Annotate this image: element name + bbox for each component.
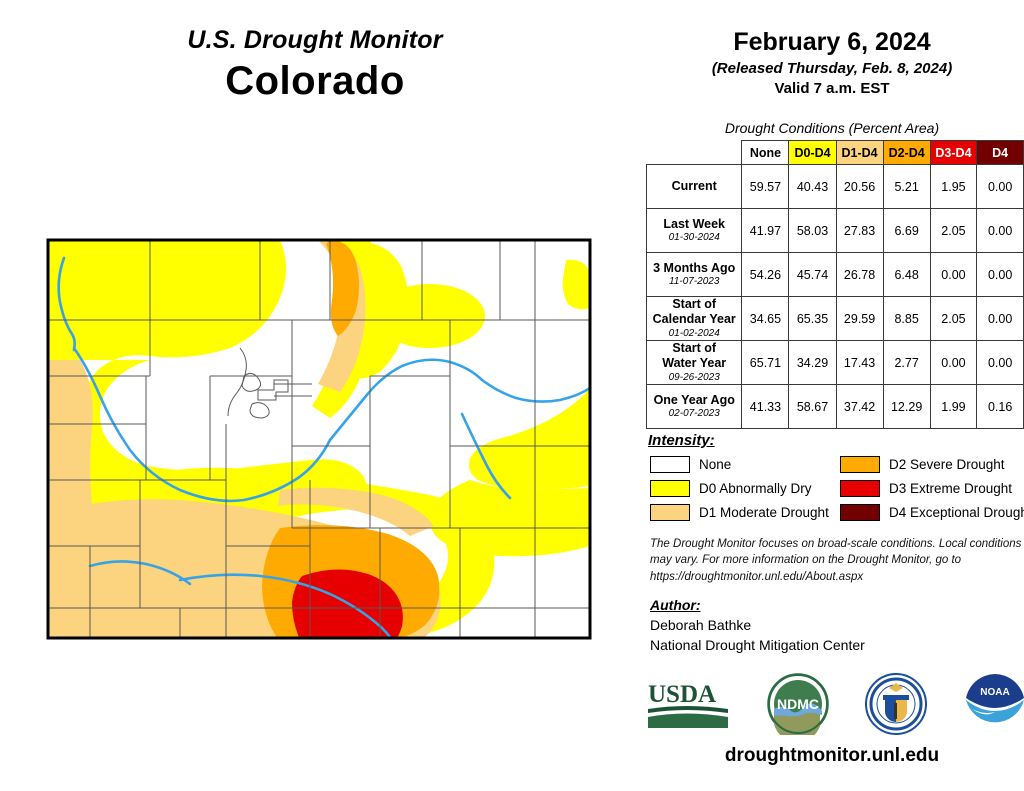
table-cell: 37.42	[836, 385, 883, 429]
page-title: U.S. Drought Monitor	[0, 26, 630, 55]
legend-item: D3 Extreme Drought	[840, 476, 1024, 500]
legend-label: D0 Abnormally Dry	[699, 481, 812, 496]
table-cell: 34.29	[789, 341, 836, 385]
legend-item: D4 Exceptional Drought	[840, 500, 1024, 524]
table-col-header-none: None	[742, 141, 789, 165]
table-cell: 0.00	[977, 165, 1024, 209]
table-body: Current59.5740.4320.565.211.950.00Last W…	[647, 165, 1024, 429]
table-cell: 29.59	[836, 297, 883, 341]
table-cell: 0.00	[930, 341, 977, 385]
legend-swatch	[650, 480, 690, 497]
table-cell: 5.21	[883, 165, 930, 209]
table-cell: 41.33	[742, 385, 789, 429]
row-date: 01-02-2024	[647, 328, 741, 340]
report-date: February 6, 2024	[640, 28, 1024, 57]
table-header-row: NoneD0-D4D1-D4D2-D4D3-D4D4	[647, 141, 1024, 165]
row-date: 01-30-2024	[647, 232, 741, 244]
d0-region-east-blob	[375, 284, 485, 348]
legend-swatch	[840, 480, 880, 497]
svg-text:USDA: USDA	[648, 681, 716, 708]
table-row: Start ofWater Year09-26-202365.7134.2917…	[647, 341, 1024, 385]
legend-swatch	[650, 504, 690, 521]
table-cell: 0.00	[977, 253, 1024, 297]
legend-label: None	[699, 457, 731, 472]
legend-label: D4 Exceptional Drought	[889, 505, 1024, 520]
table-row: Start ofCalendar Year01-02-202434.6565.3…	[647, 297, 1024, 341]
table-cell: 0.00	[977, 209, 1024, 253]
table-cell: 34.65	[742, 297, 789, 341]
legend-label: D3 Extreme Drought	[889, 481, 1012, 496]
table-col-header-d2-d4: D2-D4	[883, 141, 930, 165]
table-cell: 65.35	[789, 297, 836, 341]
row-label: Current	[647, 165, 742, 209]
table-cell: 0.16	[977, 385, 1024, 429]
table-cell: 0.00	[977, 341, 1024, 385]
table-cell: 0.00	[977, 297, 1024, 341]
table-cell: 58.03	[789, 209, 836, 253]
ndmc-logo: NDMC	[767, 673, 829, 735]
map-svg	[30, 228, 630, 658]
colorado-drought-map	[30, 228, 630, 658]
row-label: Start ofCalendar Year01-02-2024	[647, 297, 742, 341]
row-label: 3 Months Ago11-07-2023	[647, 253, 742, 297]
legend-item: D0 Abnormally Dry	[650, 476, 840, 500]
row-label: Last Week01-30-2024	[647, 209, 742, 253]
table-col-header-d3-d4: D3-D4	[930, 141, 977, 165]
table-cell: 12.29	[883, 385, 930, 429]
table-cell: 1.99	[930, 385, 977, 429]
table-cell: 2.77	[883, 341, 930, 385]
author-block: Deborah Bathke National Drought Mitigati…	[650, 615, 865, 656]
drought-monitor-page: U.S. Drought Monitor Colorado February 6…	[0, 0, 1024, 791]
drought-conditions-table: NoneD0-D4D1-D4D2-D4D3-D4D4 Current59.574…	[646, 140, 1024, 429]
commerce-seal-logo	[865, 673, 927, 735]
row-label: One Year Ago02-07-2023	[647, 385, 742, 429]
disclaimer-text: The Drought Monitor focuses on broad-sca…	[650, 536, 1022, 585]
table-cell: 2.05	[930, 209, 977, 253]
table-cell: 8.85	[883, 297, 930, 341]
table-caption: Drought Conditions (Percent Area)	[640, 120, 1024, 136]
intensity-title: Intensity:	[648, 432, 715, 449]
author-title: Author:	[650, 597, 701, 613]
table-cell: 0.00	[930, 253, 977, 297]
table-row: One Year Ago02-07-202341.3358.6737.4212.…	[647, 385, 1024, 429]
site-url: droughtmonitor.unl.edu	[640, 745, 1024, 767]
row-date: 11-07-2023	[647, 276, 741, 288]
legend-item: D1 Moderate Drought	[650, 500, 840, 524]
table-row: 3 Months Ago11-07-202354.2645.7426.786.4…	[647, 253, 1024, 297]
table-cell: 6.69	[883, 209, 930, 253]
table-cell: 2.05	[930, 297, 977, 341]
table-col-header-d1-d4: D1-D4	[836, 141, 883, 165]
table-cell: 20.56	[836, 165, 883, 209]
table-row: Last Week01-30-202441.9758.0327.836.692.…	[647, 209, 1024, 253]
row-label: Start ofWater Year09-26-2023	[647, 341, 742, 385]
intensity-legend: NoneD2 Severe DroughtD0 Abnormally DryD3…	[650, 452, 1020, 524]
legend-swatch	[840, 456, 880, 473]
row-date: 09-26-2023	[647, 372, 741, 384]
title-block: U.S. Drought Monitor Colorado	[0, 26, 630, 104]
date-block: February 6, 2024 (Released Thursday, Feb…	[640, 28, 1024, 97]
legend-label: D2 Severe Drought	[889, 457, 1005, 472]
svg-text:NDMC: NDMC	[777, 696, 819, 712]
usda-logo: USDA	[646, 676, 730, 732]
table-corner-cell	[647, 141, 742, 165]
noaa-logo: NOAA	[964, 673, 1024, 735]
legend-swatch	[650, 456, 690, 473]
table-cell: 59.57	[742, 165, 789, 209]
table-col-header-d4: D4	[977, 141, 1024, 165]
table-cell: 6.48	[883, 253, 930, 297]
valid-time: Valid 7 a.m. EST	[640, 80, 1024, 97]
legend-item: None	[650, 452, 840, 476]
state-title: Colorado	[0, 59, 630, 104]
table-cell: 17.43	[836, 341, 883, 385]
table-cell: 54.26	[742, 253, 789, 297]
author-name: Deborah Bathke	[650, 615, 865, 635]
svg-text:NOAA: NOAA	[980, 687, 1009, 698]
row-date: 02-07-2023	[647, 408, 741, 420]
table-cell: 40.43	[789, 165, 836, 209]
legend-item: D2 Severe Drought	[840, 452, 1024, 476]
logo-row: USDA NDMC	[646, 668, 1024, 740]
legend-swatch	[840, 504, 880, 521]
release-date: (Released Thursday, Feb. 8, 2024)	[640, 60, 1024, 77]
author-org: National Drought Mitigation Center	[650, 635, 865, 655]
table-cell: 45.74	[789, 253, 836, 297]
table-row: Current59.5740.4320.565.211.950.00	[647, 165, 1024, 209]
table-cell: 1.95	[930, 165, 977, 209]
legend-label: D1 Moderate Drought	[699, 505, 829, 520]
table-cell: 26.78	[836, 253, 883, 297]
table-cell: 65.71	[742, 341, 789, 385]
table-cell: 41.97	[742, 209, 789, 253]
table-cell: 58.67	[789, 385, 836, 429]
table-col-header-d0-d4: D0-D4	[789, 141, 836, 165]
table-cell: 27.83	[836, 209, 883, 253]
